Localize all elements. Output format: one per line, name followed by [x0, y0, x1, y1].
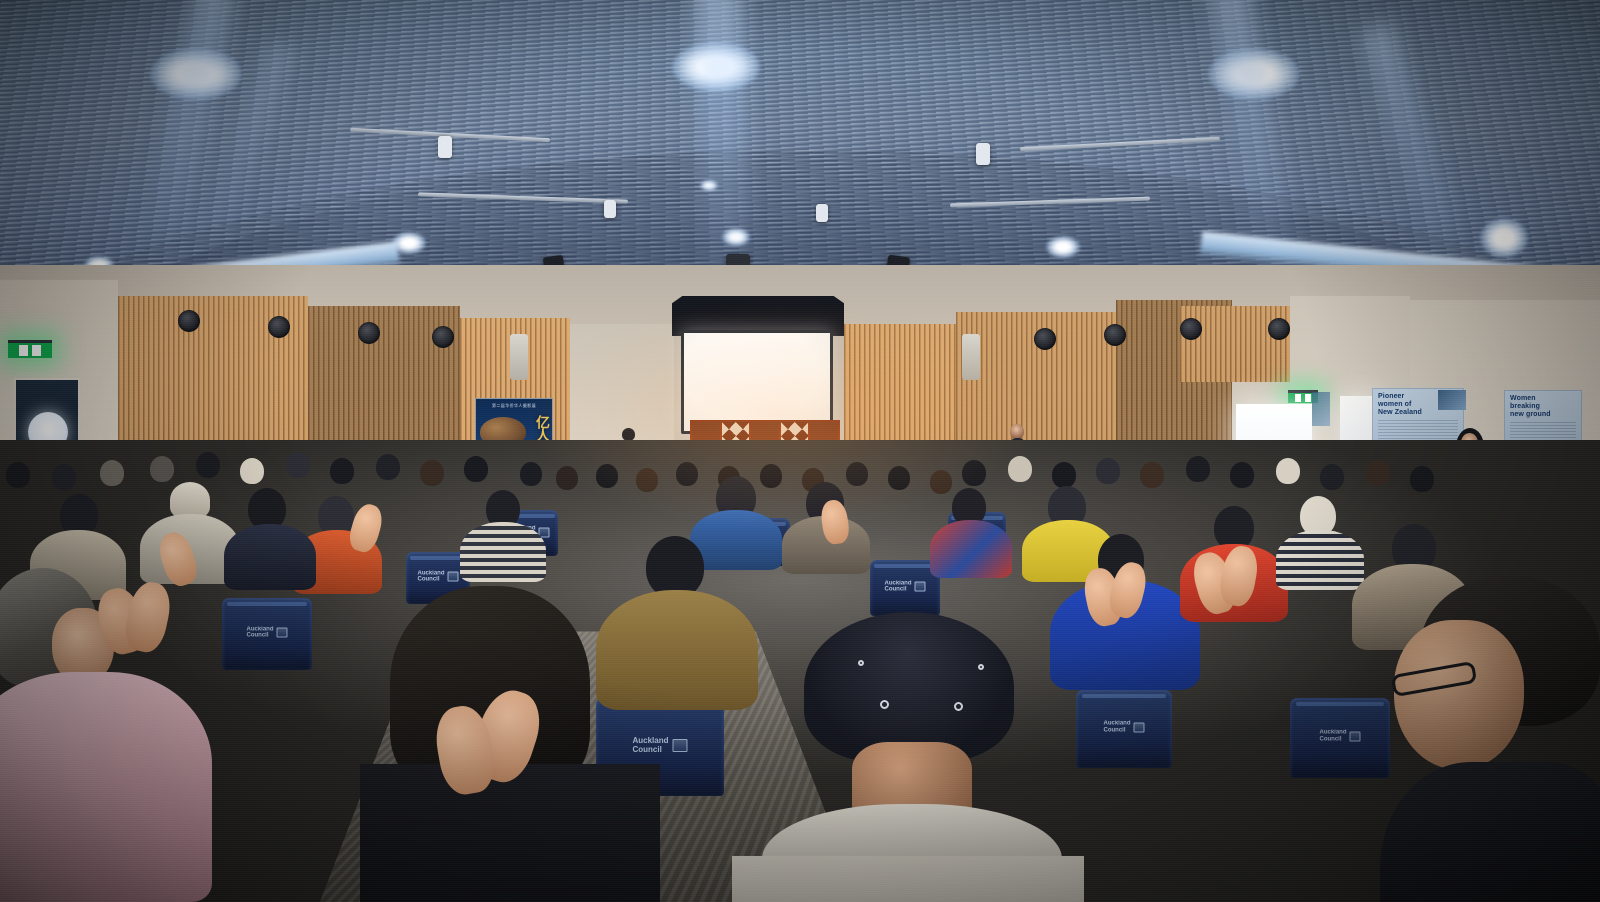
audience-head: [376, 454, 400, 480]
council-crest-icon: [277, 628, 288, 638]
woman-floral-top: [930, 520, 1012, 578]
clapping-hand: [121, 579, 175, 656]
line-speaker-right: [962, 334, 980, 380]
audience-shoulders-striped: [1276, 530, 1364, 590]
audience-head: [1140, 462, 1164, 488]
man-glasses-right-foreground: [1386, 576, 1600, 902]
exit-sign-glyph: [1295, 394, 1301, 402]
council-crest-icon: [448, 572, 459, 582]
track-spotlight-2: [976, 143, 990, 165]
track-spotlight-4: [816, 204, 828, 222]
audience-head: [930, 470, 952, 494]
chair-logo: Auckland Council: [417, 570, 458, 583]
downlight-8: [1480, 218, 1528, 258]
exit-sign-left: [8, 340, 52, 358]
man-glasses-face: [1394, 620, 1524, 770]
audience-head: [100, 460, 124, 486]
council-crest-icon: [673, 739, 688, 752]
elderly-woman-jacket: [0, 672, 212, 902]
audience-head-cap: [170, 482, 210, 518]
audience-head: [1230, 462, 1254, 488]
audience: Auckland Council Auckland Council Auckla…: [0, 440, 1600, 902]
audience-head: [286, 452, 310, 478]
wall-speaker-5: [1034, 328, 1056, 350]
chair-logo: Auckland Council: [246, 626, 287, 639]
wall-speaker-2: [268, 316, 290, 338]
council-crest-icon: [1350, 731, 1361, 741]
chair-logo-text: Auckland Council: [1103, 721, 1130, 734]
wall-speaker-3: [358, 322, 380, 344]
audience-head: [636, 468, 658, 492]
audience-head: [846, 462, 868, 486]
audience-shoulders-striped: [460, 522, 546, 582]
grey-jacket-body: [732, 856, 1084, 902]
downlight-7: [700, 180, 718, 191]
baseball-cap: [804, 612, 1014, 762]
exhibit-photo-1: [1438, 390, 1466, 410]
chair-logo: Auckland Council: [884, 580, 925, 593]
audience-head: [1410, 466, 1434, 492]
downlight-6: [722, 228, 750, 246]
audience-head: [6, 462, 30, 488]
audience-head: [556, 466, 578, 490]
chair-logo: Auckland Council: [1319, 730, 1360, 743]
auditorium-photograph: Pioneer women of New Zealand Women break…: [0, 0, 1600, 902]
exit-sign-glyph: [1305, 394, 1311, 402]
audience-head: [1320, 464, 1344, 490]
wall-speaker-8: [1268, 318, 1290, 340]
wall-speaker-4: [432, 326, 454, 348]
wall-speaker-7: [1180, 318, 1202, 340]
cap-eyelet: [954, 702, 963, 711]
exhibit-title: Women breaking new ground: [1510, 395, 1576, 418]
audience-head: [760, 464, 782, 488]
downlight-3: [1208, 48, 1300, 100]
man-black-cap-grey-jacket: [742, 612, 1072, 902]
exit-sign-glyph: [32, 345, 41, 356]
downlight-5: [1046, 236, 1080, 258]
audience-head: [676, 462, 698, 486]
downlight-2: [672, 42, 760, 92]
audience-head: [240, 458, 264, 484]
audience-head: [1008, 456, 1032, 482]
man-glasses-body: [1380, 762, 1600, 902]
chair-logo-text: Auckland Council: [1319, 730, 1346, 743]
chair-logo-text: Auckland Council: [246, 626, 273, 639]
downlight-1: [150, 48, 242, 100]
clapper-body: [360, 764, 660, 902]
council-crest-icon: [915, 582, 926, 592]
audience-head: [1052, 462, 1076, 488]
audience-head: [1096, 458, 1120, 484]
audience-head: [596, 464, 618, 488]
audience-head: [196, 452, 220, 478]
audience-head: [1186, 456, 1210, 482]
cap-eyelet: [858, 660, 864, 666]
exit-sign-glyph: [19, 345, 28, 356]
cap-eyelet: [880, 700, 889, 709]
audience-head: [150, 456, 174, 482]
wall-speaker-1: [178, 310, 200, 332]
projector-screen-surface: [684, 333, 830, 431]
elderly-woman-pink-jacket: [0, 568, 250, 902]
audience-head: [962, 460, 986, 486]
wall-speaker-6: [1104, 324, 1126, 346]
chair-logo: Auckland Council: [1103, 721, 1144, 734]
audience-head: [464, 456, 488, 482]
person-clapping-center-left: [380, 586, 660, 902]
council-crest-icon: [1134, 722, 1145, 732]
chair[interactable]: Auckland Council: [1290, 698, 1390, 778]
audience-head: [520, 462, 542, 486]
chair-logo-text: Auckland Council: [884, 580, 911, 593]
audience-head: [52, 464, 76, 490]
cap-eyelet: [978, 664, 984, 670]
presenter-head: [1010, 424, 1024, 439]
chair[interactable]: Auckland Council: [1076, 690, 1172, 768]
audience-head: [1276, 458, 1300, 484]
exhibit-photo-2: [1312, 392, 1330, 426]
chair-logo-text: Auckland Council: [417, 570, 444, 583]
track-spotlight-3: [604, 200, 616, 218]
audience-head: [420, 460, 444, 486]
wall-timber-right-4: [1180, 306, 1290, 382]
projector-screen: [681, 330, 833, 434]
audience-head: [1366, 460, 1390, 486]
banner-top-text: 第二届华侨华人摄影展: [476, 403, 552, 409]
downlight-4: [392, 232, 426, 254]
track-spotlight-1: [438, 136, 452, 158]
audience-head: [888, 466, 910, 490]
audience-head: [330, 458, 354, 484]
audience-shoulders: [690, 510, 782, 570]
line-speaker-left: [510, 334, 528, 380]
